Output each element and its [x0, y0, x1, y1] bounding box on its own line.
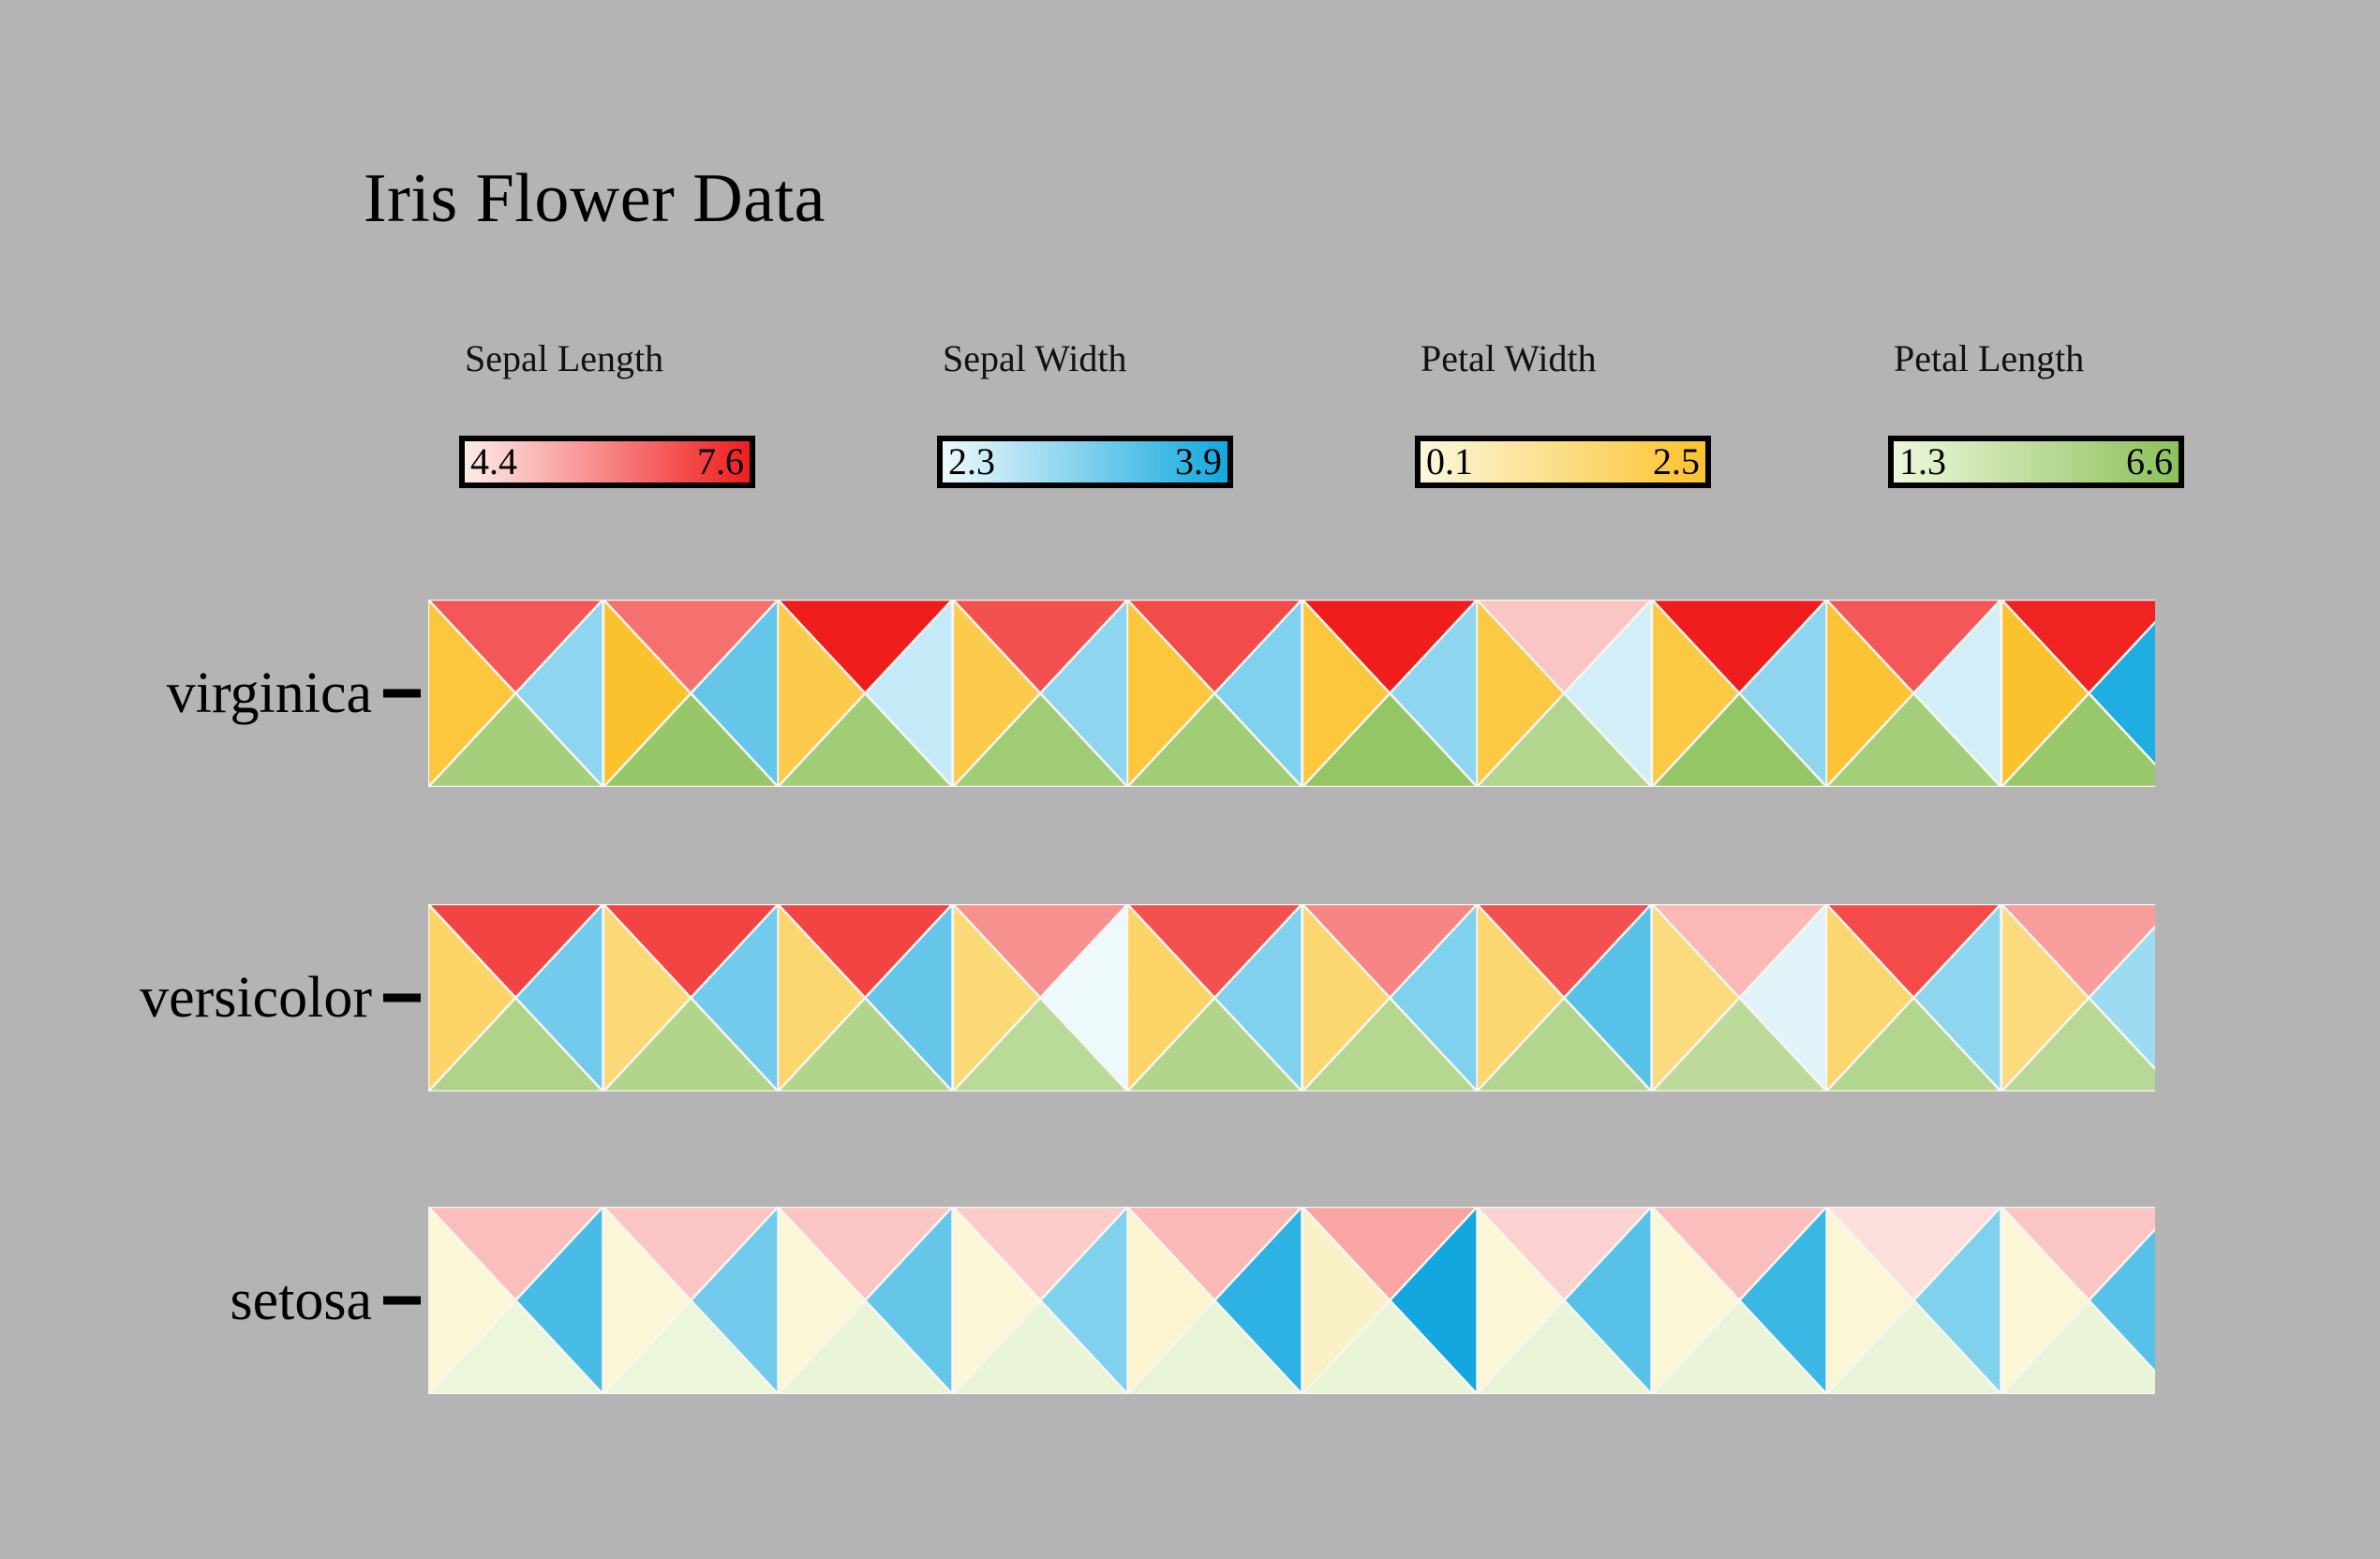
glyph-cell[interactable]: [778, 904, 953, 1091]
axis-tick-versicolor: [383, 994, 421, 1002]
glyph-cell[interactable]: [2001, 600, 2156, 787]
glyph-cell[interactable]: [778, 1207, 953, 1394]
glyph-cell[interactable]: [428, 1207, 603, 1394]
glyph-triangles: [1127, 600, 1302, 787]
glyph-triangles: [1302, 1207, 1478, 1394]
species-row-setosa: [428, 1207, 2155, 1394]
glyph-cell[interactable]: [428, 904, 603, 1091]
glyph-cell[interactable]: [1826, 1207, 2001, 1394]
glyph-cell[interactable]: [1302, 1207, 1478, 1394]
legend-colorbar-sepal_width[interactable]: 2.33.9: [937, 436, 1233, 488]
legend-colorbar-sepal_length[interactable]: 4.47.6: [459, 436, 755, 488]
species-row-virginica: [428, 600, 2155, 787]
glyph-cell[interactable]: [2001, 1207, 2156, 1394]
glyph-cell[interactable]: [1127, 600, 1302, 787]
glyph-cell[interactable]: [603, 1207, 779, 1394]
glyph-triangles: [953, 1207, 1128, 1394]
glyph-cell[interactable]: [1652, 1207, 1827, 1394]
legend-colorbar-petal_width[interactable]: 0.12.5: [1415, 436, 1711, 488]
glyph-cell[interactable]: [1302, 904, 1478, 1091]
glyph-cell[interactable]: [1477, 600, 1652, 787]
legend-min-sepal_length: 4.4: [470, 443, 517, 481]
glyph-triangles: [1302, 600, 1478, 787]
glyph-cell[interactable]: [778, 600, 953, 787]
legend-max-petal_width: 2.5: [1653, 443, 1700, 481]
legend-title-sepal_width: Sepal Width: [943, 340, 1127, 378]
glyph-cell[interactable]: [603, 904, 779, 1091]
glyph-triangles: [1826, 600, 2001, 787]
row-label-virginica: virginica: [167, 664, 372, 722]
glyph-triangles: [1127, 1207, 1302, 1394]
glyph-cell[interactable]: [953, 904, 1128, 1091]
glyph-triangles: [1302, 904, 1478, 1091]
glyph-cell[interactable]: [2001, 904, 2156, 1091]
glyph-triangles: [2001, 1207, 2156, 1394]
glyph-cell[interactable]: [1652, 904, 1827, 1091]
glyph-triangles: [778, 1207, 953, 1394]
glyph-cell[interactable]: [428, 600, 603, 787]
glyph-triangles: [1477, 904, 1652, 1091]
legend-max-sepal_length: 7.6: [697, 443, 744, 481]
glyph-cell[interactable]: [603, 600, 779, 787]
glyph-triangles: [428, 600, 603, 787]
glyph-cell[interactable]: [1477, 1207, 1652, 1394]
glyph-cell[interactable]: [1127, 1207, 1302, 1394]
glyph-cell[interactable]: [1477, 904, 1652, 1091]
glyph-triangles: [603, 1207, 779, 1394]
glyph-triangles: [2001, 904, 2156, 1091]
legend-max-sepal_width: 3.9: [1175, 443, 1222, 481]
glyph-cell[interactable]: [1652, 600, 1827, 787]
legend-title-sepal_length: Sepal Length: [465, 340, 663, 378]
glyph-cell[interactable]: [1127, 904, 1302, 1091]
glyph-triangles: [2001, 600, 2156, 787]
legend-title-petal_length: Petal Length: [1894, 340, 2084, 378]
glyph-triangles: [1826, 904, 2001, 1091]
glyph-cell[interactable]: [1826, 600, 2001, 787]
glyph-triangles: [1826, 1207, 2001, 1394]
glyph-triangles: [1652, 600, 1827, 787]
legend-colorbar-petal_length[interactable]: 1.36.6: [1888, 436, 2184, 488]
glyph-triangles: [778, 600, 953, 787]
glyph-triangles: [1652, 904, 1827, 1091]
glyph-triangles: [428, 1207, 603, 1394]
axis-tick-virginica: [383, 690, 421, 698]
glyph-triangles: [1652, 1207, 1827, 1394]
glyph-triangles: [953, 904, 1128, 1091]
glyph-triangles: [1477, 1207, 1652, 1394]
row-label-setosa: setosa: [230, 1271, 372, 1329]
glyph-triangles: [953, 600, 1128, 787]
legend-min-sepal_width: 2.3: [948, 443, 995, 481]
axis-tick-setosa: [383, 1297, 421, 1305]
page-title: Iris Flower Data: [364, 164, 826, 233]
glyph-triangles: [1477, 600, 1652, 787]
legend-title-petal_width: Petal Width: [1421, 340, 1597, 378]
glyph-cell[interactable]: [953, 1207, 1128, 1394]
glyph-triangles: [778, 904, 953, 1091]
species-row-versicolor: [428, 904, 2155, 1091]
glyph-cell[interactable]: [1826, 904, 2001, 1091]
glyph-cell[interactable]: [953, 600, 1128, 787]
glyph-triangles: [603, 904, 779, 1091]
row-label-versicolor: versicolor: [140, 969, 372, 1027]
glyph-triangles: [1127, 904, 1302, 1091]
legend-min-petal_length: 1.3: [1899, 443, 1946, 481]
glyph-triangles: [428, 904, 603, 1091]
legend-min-petal_width: 0.1: [1426, 443, 1473, 481]
glyph-cell[interactable]: [1302, 600, 1478, 787]
glyph-triangles: [603, 600, 779, 787]
legend-max-petal_length: 6.6: [2126, 443, 2173, 481]
